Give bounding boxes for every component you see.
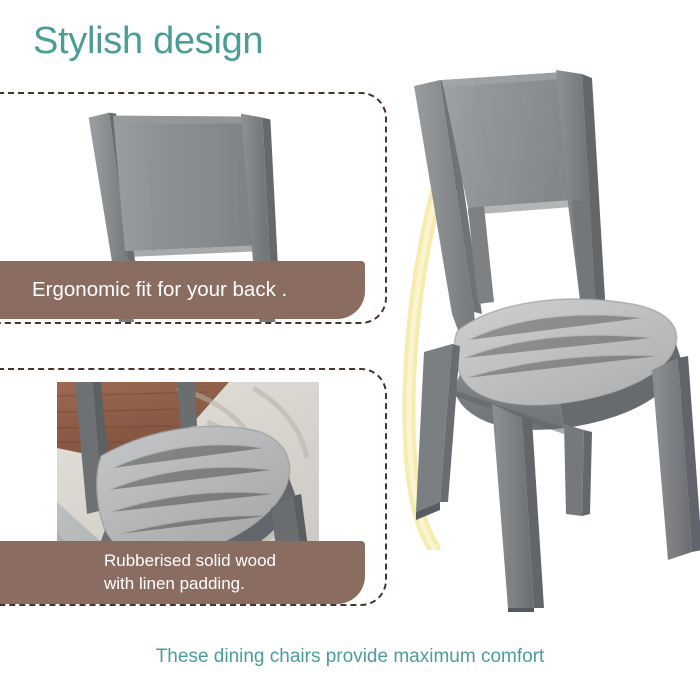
chair-rear-right-leg bbox=[564, 424, 592, 516]
chair-front-right-leg bbox=[652, 356, 700, 560]
chair-back-post-lower bbox=[468, 200, 596, 304]
feature-band-ergonomic-back: Ergonomic fit for your back . bbox=[0, 261, 365, 319]
page-title: Stylish design bbox=[33, 20, 263, 63]
infographic-canvas: Stylish design bbox=[0, 0, 700, 700]
feature-band-label-rubberised-wood: Rubberised solid wood with linen padding… bbox=[104, 550, 276, 596]
footer-caption: These dining chairs provide maximum comf… bbox=[0, 646, 700, 668]
backrest-panel bbox=[113, 116, 258, 258]
chair-front-left-leg bbox=[492, 404, 544, 612]
feature-band-label-ergonomic-back: Ergonomic fit for your back . bbox=[32, 278, 287, 302]
dining-chair-gray-full-view-image bbox=[396, 52, 700, 612]
chair-rear-left-leg bbox=[416, 344, 460, 520]
feature-band-rubberised-wood: Rubberised solid wood with linen padding… bbox=[0, 541, 365, 604]
